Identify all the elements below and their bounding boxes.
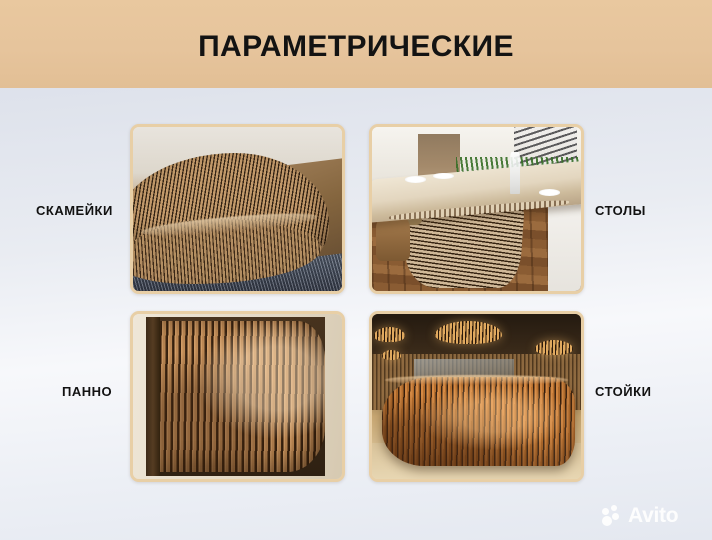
card-counters[interactable] — [369, 311, 584, 482]
label-panels: ПАННО — [62, 384, 112, 400]
bottle — [510, 152, 520, 195]
pendant-lamp — [382, 350, 401, 360]
pendant-lamp — [374, 327, 405, 342]
avito-watermark-label: Avito — [628, 505, 678, 527]
slide-canvas: ПАРАМЕТРИЧЕСКИЕ — [0, 0, 712, 540]
avito-logo-icon — [602, 505, 626, 527]
side-wall — [548, 196, 581, 291]
card-panels[interactable] — [130, 311, 345, 482]
page-title: ПАРАМЕТРИЧЕСКИЕ — [0, 29, 712, 65]
label-benches: СКАМЕЙКИ — [36, 203, 113, 219]
counter-shading — [382, 377, 574, 466]
card-tables[interactable] — [369, 124, 584, 294]
plate — [405, 176, 426, 183]
counter-top-rail — [385, 375, 569, 385]
label-counters: СТОЙКИ — [595, 384, 651, 400]
parametric-reception-counter-photo — [372, 314, 581, 479]
pendant-lamp — [535, 340, 573, 355]
label-tables: СТОЛЫ — [595, 203, 646, 219]
parametric-wooden-table-photo — [372, 127, 581, 291]
panel-left-stile — [146, 317, 161, 475]
pendant-lamp — [435, 321, 502, 344]
avito-watermark: Avito — [602, 502, 698, 530]
plate — [539, 189, 560, 196]
parametric-wall-panel-photo — [133, 314, 342, 479]
parametric-wooden-bench-photo — [133, 127, 342, 291]
card-benches[interactable] — [130, 124, 345, 294]
log-stool-front — [376, 219, 409, 262]
panel-shading — [154, 321, 325, 473]
